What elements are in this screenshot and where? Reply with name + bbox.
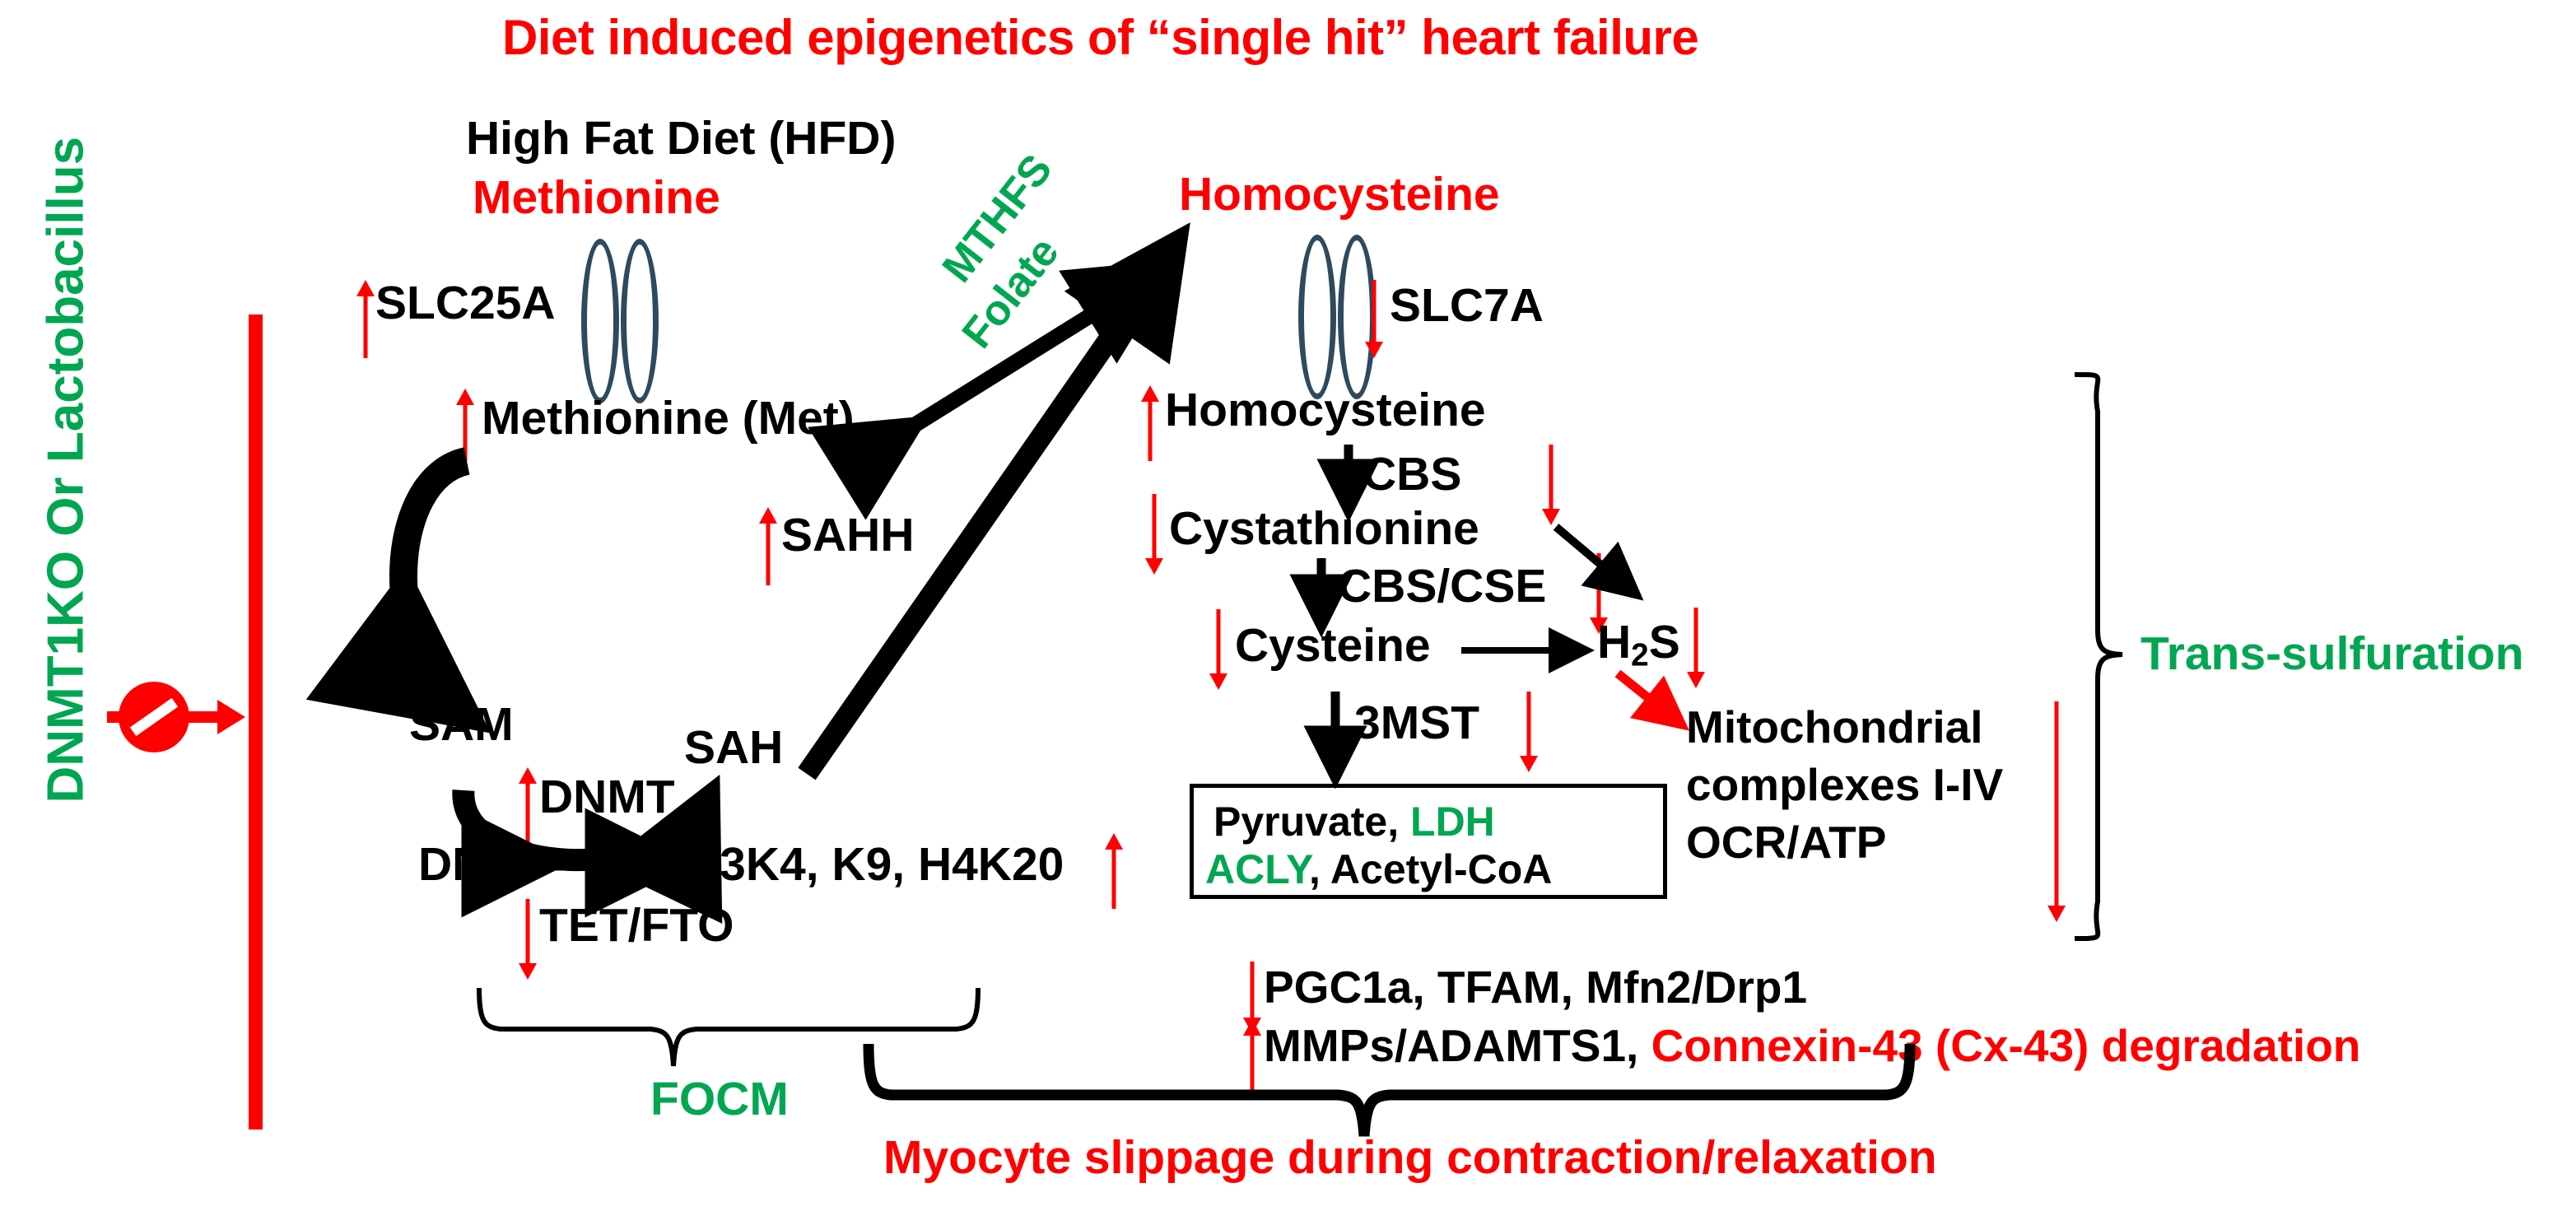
- cbs-label: CBS: [1363, 451, 1461, 498]
- cysteine-label: Cysteine: [1235, 622, 1431, 669]
- slc7a-label: SLC7A: [1390, 282, 1544, 329]
- slc25a-up-arrow: [356, 280, 375, 358]
- cbs-down-arrow: [1541, 445, 1561, 525]
- h2s-base: H: [1597, 616, 1631, 668]
- sahh-up-arrow: [758, 507, 778, 585]
- slc7a-down-arrow: [1364, 280, 1384, 358]
- acetyl-coa-text: , Acetyl-CoA: [1309, 846, 1552, 892]
- cystathionine-label: Cystathionine: [1169, 505, 1479, 552]
- h2s-label: H2S: [1597, 619, 1680, 672]
- mitochondrial-line3: OCR/ATP: [1686, 820, 1886, 865]
- slc25a-label: SLC25A: [375, 280, 556, 327]
- h2s-down-arrow: [1686, 608, 1706, 688]
- mitochondria-down-arrow: [2047, 701, 2066, 922]
- h2s-to-mitochondria-arrow: [1618, 673, 1679, 723]
- inhibition-arrow-head: [217, 700, 245, 734]
- acly-text: ACLY: [1205, 846, 1309, 892]
- trans-sulfuration-brace: [2075, 375, 2122, 939]
- tet-fto-label: TET/FTO: [539, 902, 734, 949]
- focm-brace: [479, 988, 978, 1066]
- methionine-to-sam-curve: [403, 461, 467, 710]
- homocysteine-intracellular-label: Homocysteine: [1165, 387, 1486, 434]
- focm-brace-label: FOCM: [650, 1076, 789, 1123]
- h2s-subscript: 2: [1631, 638, 1649, 673]
- cbs-cse-label: CBS/CSE: [1338, 563, 1546, 610]
- homocysteine-up-arrow: [1140, 385, 1160, 461]
- no-entry-icon: [119, 682, 189, 752]
- diet-methionine-label: Methionine: [473, 175, 720, 221]
- page-title: Diet induced epigenetics of “single hit”…: [502, 13, 1698, 63]
- connexin43-text: Connexin-43 (Cx-43) degradation: [1651, 1020, 2361, 1071]
- sah-label: SAH: [684, 724, 783, 771]
- ldh-text: LDH: [1410, 799, 1495, 845]
- cysteine-down-arrow: [1209, 609, 1228, 690]
- mmps-up-arrow: [1242, 1019, 1262, 1092]
- trans-sulfuration-label: Trans-sulfuration: [2140, 631, 2524, 678]
- homocysteine-extracellular-label: Homocysteine: [1179, 171, 1500, 218]
- pyruvate-box: Pyruvate, LDH ACLY, Acetyl-CoA: [1190, 784, 1667, 899]
- pyruvate-line2: ACLY, Acetyl-CoA: [1205, 845, 1552, 893]
- high-fat-diet-label: High Fat Diet (HFD): [466, 115, 896, 162]
- myocyte-slippage-caption: Myocyte slippage during contraction/rela…: [883, 1134, 1937, 1181]
- pyruvate-text: Pyruvate,: [1213, 799, 1399, 845]
- diagram-canvas: Diet induced epigenetics of “single hit”…: [0, 0, 2576, 1211]
- tet-fto-down-arrow: [518, 899, 538, 980]
- h2s-tail: S: [1649, 616, 1680, 668]
- mmps-row-label: MMPs/ADAMTS1, Connexin-43 (Cx-43) degrad…: [1264, 1023, 2360, 1069]
- mitochondrial-line2: complexes I-IV: [1686, 762, 2003, 808]
- cystathionine-down-arrow: [1144, 494, 1164, 575]
- methionine-met-up-arrow: [455, 389, 475, 461]
- sahh-label: SAHH: [781, 512, 915, 559]
- red-barrier-line: [249, 314, 263, 1129]
- mitochondrial-line1: Mitochondrial: [1686, 705, 1983, 750]
- histone-marks-label: H3K4, K9, H4K20: [686, 841, 1064, 888]
- dnmt-label: DNMT: [539, 774, 675, 821]
- 3mst-label: 3MST: [1354, 700, 1479, 747]
- dnmt-up-arrow: [518, 767, 538, 843]
- pyruvate-line1: Pyruvate, LDH: [1213, 798, 1495, 845]
- mmps-text: MMPs/ADAMTS1,: [1264, 1020, 1651, 1071]
- sam-label: SAM: [409, 701, 514, 748]
- dna-label: DNA: [418, 841, 520, 888]
- pgc1a-row-label: PGC1a, TFAM, Mfn2/Drp1: [1264, 965, 1807, 1010]
- methionine-met-label: Methionine (Met): [482, 395, 855, 442]
- 3mst-down-arrow: [1519, 692, 1539, 772]
- vertical-axis-label: DNMT1KO Or Lactobacillus: [37, 178, 95, 803]
- slc25a-transporter-icon: [581, 239, 660, 403]
- histone-marks-up-arrow: [1104, 833, 1124, 909]
